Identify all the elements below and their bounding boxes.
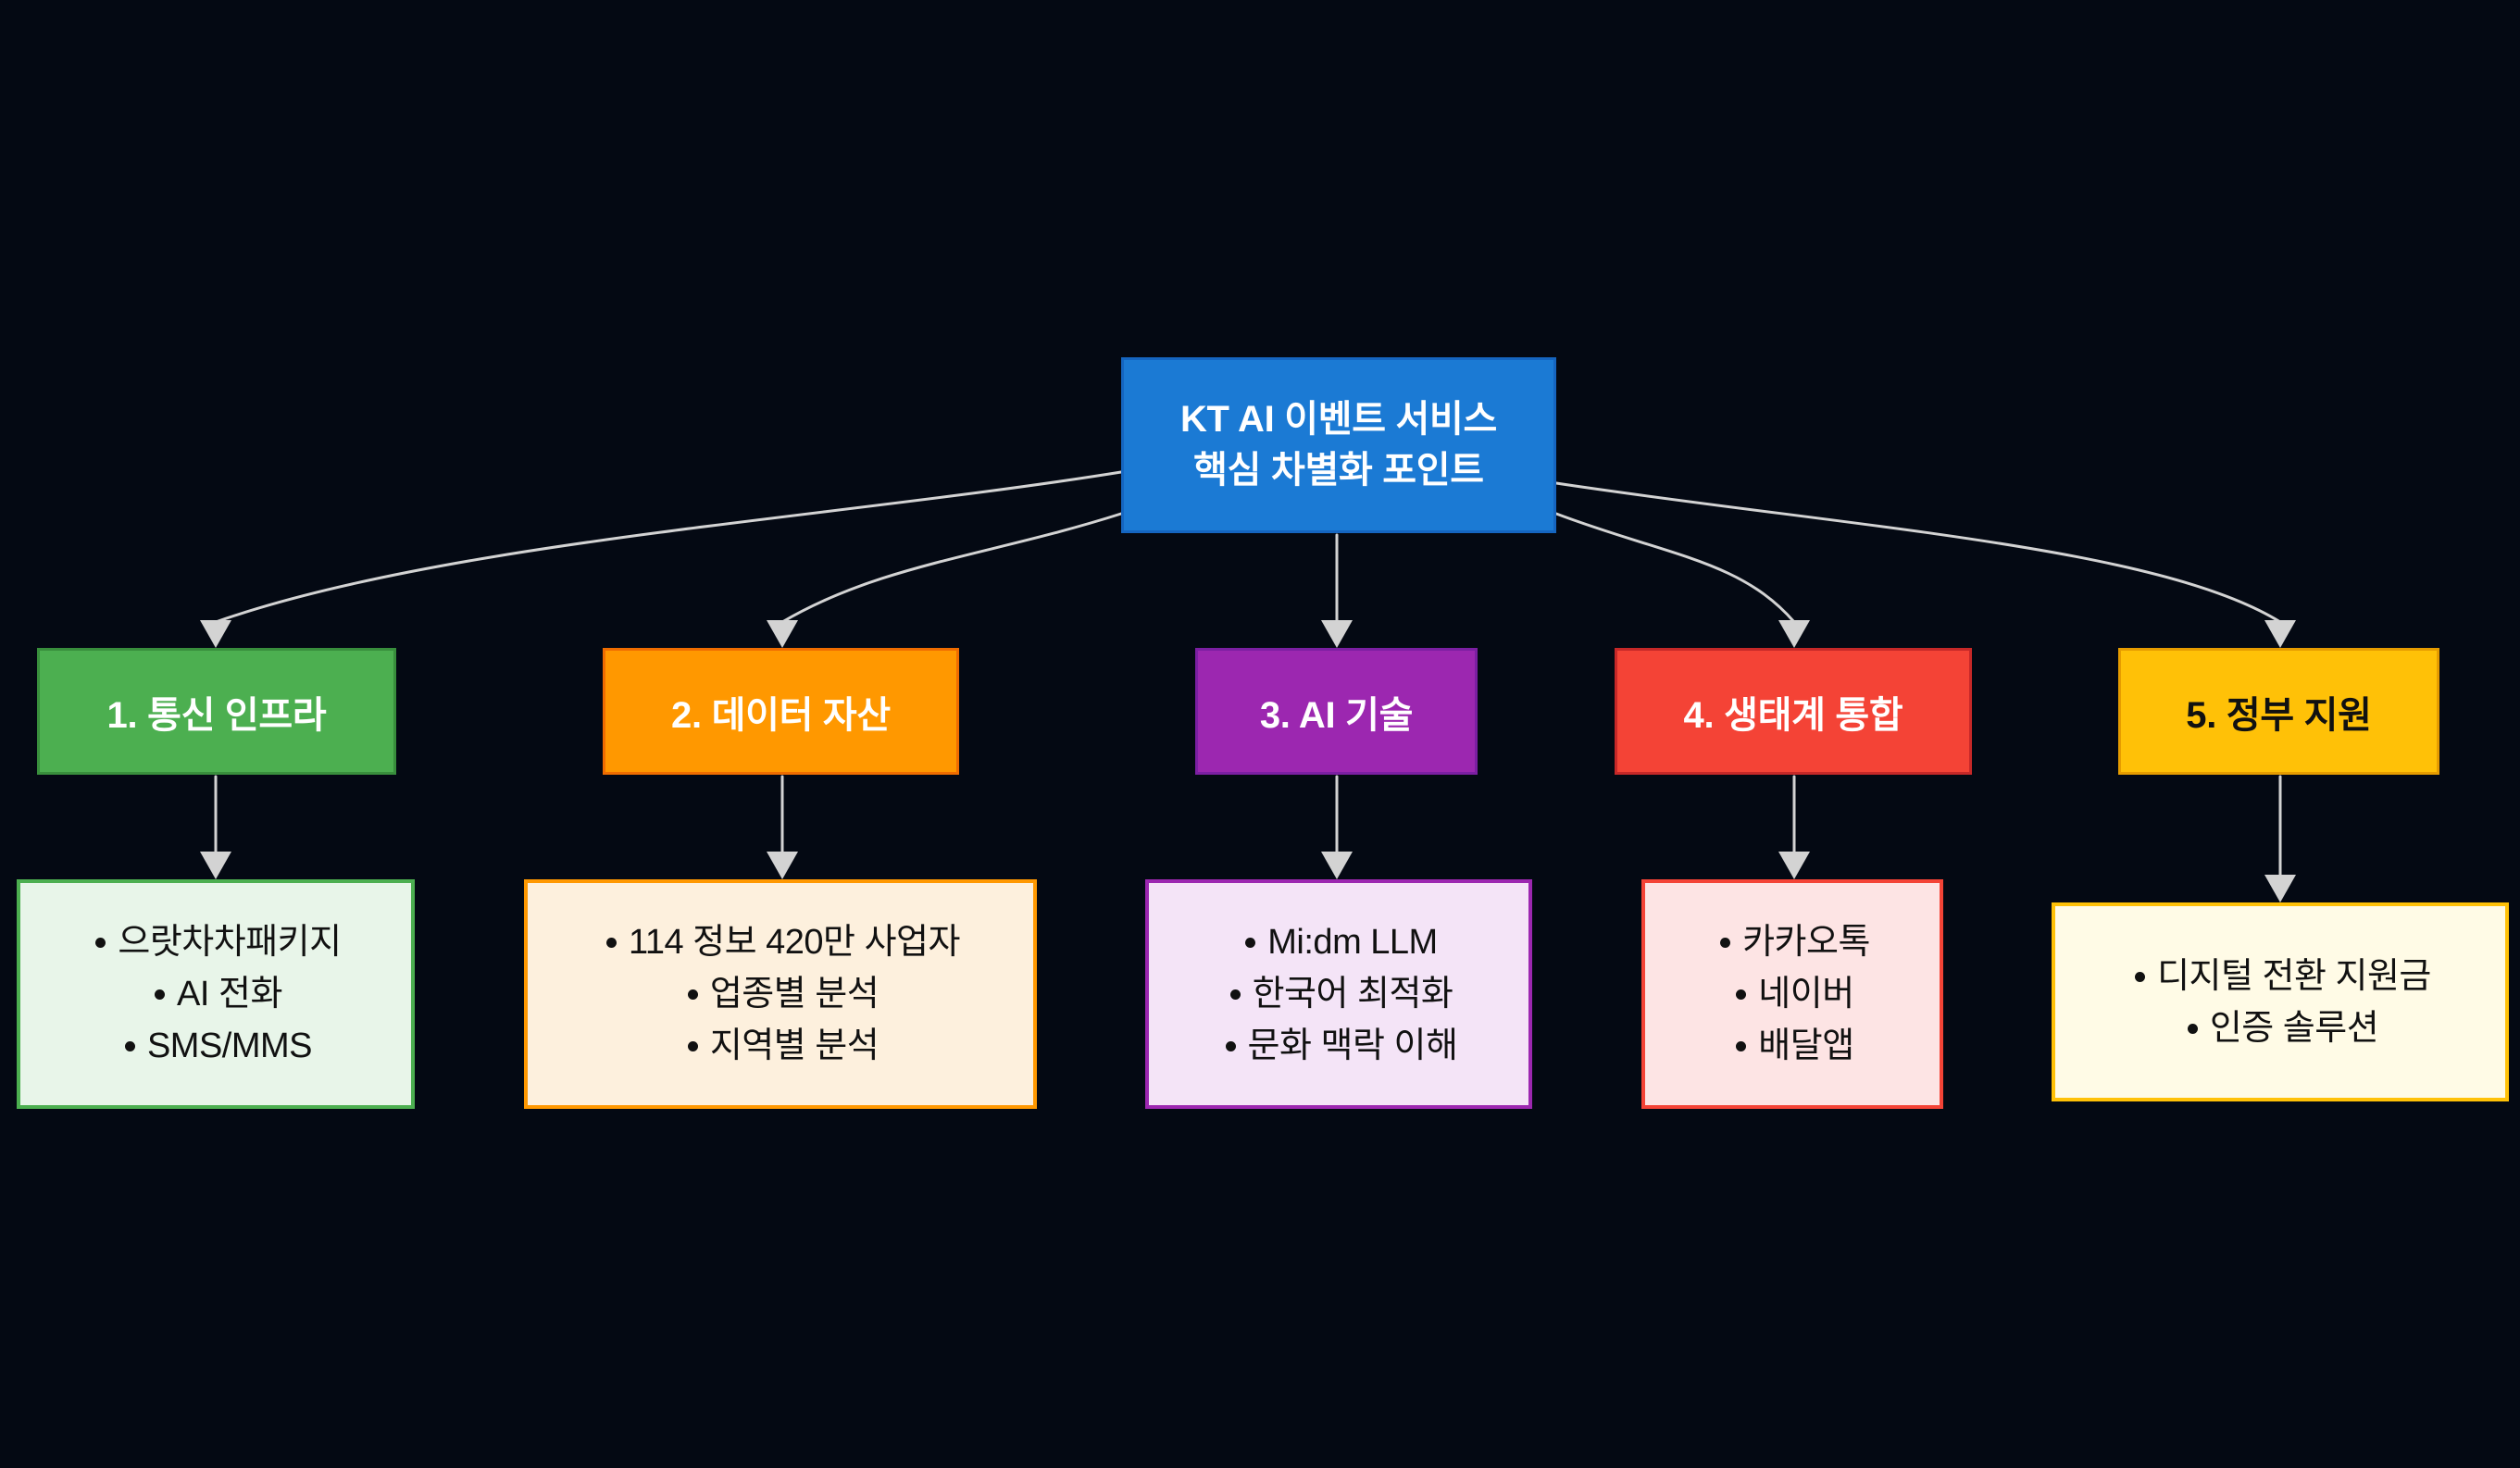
detail-list-item: 한국어 최적화 (1225, 977, 1453, 1012)
category-node-label: 4. 생태계 통합 (1684, 685, 1903, 739)
arrowhead-edge-root-3 (1321, 620, 1353, 648)
arrowhead-edge-root-4 (1778, 620, 1810, 648)
arrowhead-edge-4-detail (1778, 852, 1810, 879)
arrowhead-edge-root-2 (767, 620, 798, 648)
detail-item-list: Mi:dm LLM한국어 최적화문화 맥락 이해 (1220, 916, 1458, 1072)
root-node-title-line1: KT AI 이벤트 서비스 (1180, 394, 1497, 445)
detail-list-item: 문화 맥락 이해 (1220, 1028, 1458, 1064)
detail-list-item: 지역별 분석 (682, 1028, 879, 1064)
detail-node-1[interactable]: 으랏차차패키지AI 전화SMS/MMS (17, 879, 415, 1109)
connector-edge-root-2 (782, 514, 1121, 622)
detail-list-item: 카카오톡 (1715, 925, 1870, 960)
detail-item-list: 114 정보 420만 사업자업종별 분석지역별 분석 (601, 916, 960, 1072)
root-node-title-line2: 핵심 차별화 포인트 (1193, 445, 1484, 496)
detail-item-list: 디지털 전환 지원금인증 솔루션 (2129, 951, 2431, 1054)
category-node-4[interactable]: 4. 생태계 통합 (1615, 648, 1972, 775)
detail-list-item: 114 정보 420만 사업자 (601, 925, 960, 960)
root-node[interactable]: KT AI 이벤트 서비스 핵심 차별화 포인트 (1121, 357, 1556, 533)
detail-list-item: SMS/MMS (119, 1028, 312, 1064)
category-node-1[interactable]: 1. 통신 인프라 (37, 648, 396, 775)
category-node-2[interactable]: 2. 데이터 자산 (603, 648, 959, 775)
arrowhead-edge-5-detail (2264, 875, 2296, 902)
detail-list-item: 네이버 (1730, 977, 1853, 1012)
category-node-label: 5. 정부 지원 (2186, 685, 2371, 739)
arrowhead-edge-2-detail (767, 852, 798, 879)
connector-edge-root-1 (216, 472, 1121, 622)
detail-list-item: 으랏차차패키지 (90, 925, 341, 960)
detail-item-list: 카카오톡네이버배달앱 (1715, 916, 1870, 1072)
detail-list-item: Mi:dm LLM (1240, 925, 1437, 960)
category-node-3[interactable]: 3. AI 기술 (1195, 648, 1478, 775)
detail-list-item: AI 전화 (149, 977, 282, 1012)
detail-node-3[interactable]: Mi:dm LLM한국어 최적화문화 맥락 이해 (1145, 879, 1532, 1109)
diagram-canvas: KT AI 이벤트 서비스 핵심 차별화 포인트 1. 통신 인프라으랏차차패키… (0, 0, 2520, 1468)
category-node-label: 2. 데이터 자산 (671, 685, 891, 739)
detail-node-2[interactable]: 114 정보 420만 사업자업종별 분석지역별 분석 (524, 879, 1037, 1109)
arrowhead-edge-3-detail (1321, 852, 1353, 879)
arrowhead-edge-1-detail (200, 852, 231, 879)
arrowhead-edge-root-1 (200, 620, 231, 648)
connector-edge-root-5 (1556, 483, 2280, 622)
detail-list-item: 업종별 분석 (682, 977, 879, 1012)
detail-list-item: 디지털 전환 지원금 (2129, 959, 2431, 994)
detail-node-4[interactable]: 카카오톡네이버배달앱 (1641, 879, 1943, 1109)
detail-item-list: 으랏차차패키지AI 전화SMS/MMS (90, 916, 341, 1072)
detail-node-5[interactable]: 디지털 전환 지원금인증 솔루션 (2052, 902, 2509, 1101)
category-node-label: 3. AI 기술 (1260, 685, 1413, 739)
detail-list-item: 인증 솔루션 (2182, 1011, 2378, 1046)
connector-edge-root-4 (1556, 514, 1794, 622)
detail-list-item: 배달앱 (1730, 1028, 1853, 1064)
arrowhead-edge-root-5 (2264, 620, 2296, 648)
category-node-5[interactable]: 5. 정부 지원 (2118, 648, 2439, 775)
category-node-label: 1. 통신 인프라 (107, 685, 327, 739)
